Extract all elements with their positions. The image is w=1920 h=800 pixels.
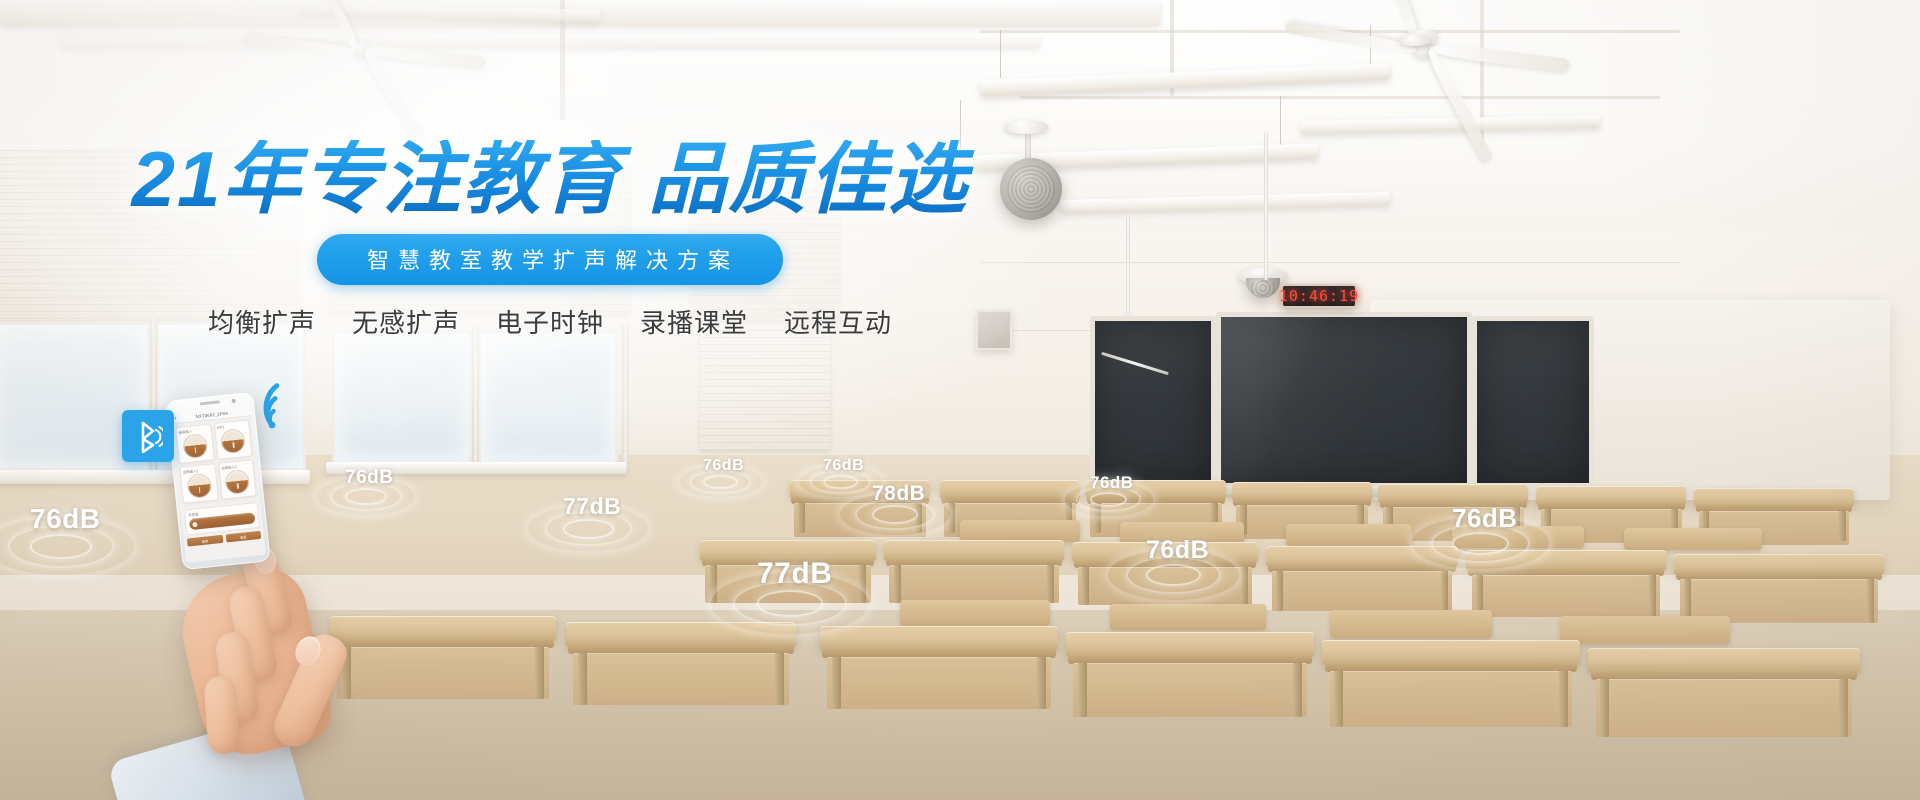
desk-front — [1272, 571, 1452, 611]
phone-front-camera — [231, 398, 235, 402]
channel-tile-grid: 级联输入MP3话筒输入1话筒输入2 — [172, 416, 260, 507]
desk-leg-r — [1293, 663, 1302, 717]
chair-row-b-3 — [1286, 524, 1412, 546]
smartphone[interactable]: ‹ NXT0602_2P04 级联输入MP3话筒输入1话筒输入2 总音量 静音重… — [165, 392, 270, 570]
bluetooth-badge — [122, 410, 174, 462]
phone-screen[interactable]: ‹ NXT0602_2P04 级联输入MP3话筒输入1话筒输入2 总音量 静音重… — [171, 405, 266, 563]
desk-top — [1232, 482, 1372, 500]
volume-knob-3[interactable] — [186, 473, 212, 499]
clock-time-display: 10:46:19 — [1279, 287, 1359, 305]
db-label-6: 78dB — [872, 482, 925, 506]
desk-front — [1596, 679, 1852, 737]
db-label-9: 76dB — [1146, 536, 1209, 565]
phone-earpiece — [200, 400, 220, 405]
blackboard-main — [1216, 312, 1472, 488]
desk-front — [827, 657, 1051, 709]
desk-leg-l — [1078, 663, 1087, 717]
desk-top — [1674, 554, 1884, 574]
desk-leg-r — [1839, 679, 1848, 737]
chair-row-b-1 — [960, 520, 1080, 542]
channel-tile-3[interactable]: 话筒输入1 — [179, 463, 218, 504]
finger-pinky — [203, 675, 240, 755]
feature-item-5: 远程互动 — [784, 303, 892, 340]
desk-row-c-3 — [1322, 640, 1580, 736]
desk-front — [889, 565, 1058, 603]
chair-row-c-1 — [900, 600, 1050, 626]
desk-leg-r — [1559, 671, 1568, 727]
speaker-ceiling-plate-1 — [1004, 120, 1048, 134]
desk-leg-r — [1047, 565, 1054, 603]
desk-top — [1378, 484, 1528, 502]
desk-top — [884, 540, 1064, 560]
db-label-1: 76dB — [30, 503, 100, 535]
db-label-10: 76dB — [1452, 503, 1518, 534]
desk-top — [1322, 640, 1580, 664]
db-label-4: 76dB — [703, 457, 744, 475]
wifi-signal-icon — [262, 375, 322, 433]
desk-row-c-1 — [820, 626, 1058, 716]
desk-top — [1066, 632, 1314, 656]
volume-knob-4[interactable] — [224, 469, 250, 495]
feature-item-4: 录播课堂 — [640, 303, 748, 340]
volume-knob-2[interactable] — [220, 428, 246, 454]
desk-leg-l — [1276, 571, 1283, 611]
app-button-2[interactable]: 重置 — [225, 531, 261, 543]
chair-row-b-5 — [1624, 528, 1762, 550]
feature-item-1: 均衡扩声 — [208, 303, 316, 340]
channel-tile-4[interactable]: 话筒输入2 — [218, 459, 257, 500]
db-label-8: 76dB — [1090, 473, 1134, 493]
desk-leg-l — [1334, 671, 1343, 727]
page-title: 21年专注教育品质佳选 — [0, 140, 1100, 218]
feature-item-2: 无感扩声 — [352, 303, 460, 340]
ceiling-soffit-b — [60, 34, 1040, 48]
desk-leg-l — [1600, 679, 1609, 737]
bluetooth-icon — [133, 419, 163, 453]
ceiling-mic-stem-2 — [1264, 132, 1268, 280]
electronic-clock: 10:46:19 — [1281, 284, 1357, 308]
desk-row-c-4 — [1588, 648, 1860, 746]
desk-leg-l — [798, 503, 805, 533]
headline-part-2: 品质佳选 — [648, 135, 968, 223]
volume-knob-1[interactable] — [182, 433, 208, 459]
desk-leg-l — [1082, 567, 1089, 605]
window-mullion-3 — [622, 326, 629, 471]
light-wire-1 — [1000, 30, 1001, 78]
db-label-7: 77dB — [757, 557, 832, 591]
desk-row-c-0 — [566, 622, 796, 712]
ceiling-beam-e — [1020, 96, 1660, 99]
desk-leg-l — [832, 657, 841, 709]
subtitle-pill: 智慧教室教学扩声解决方案 — [317, 234, 783, 285]
channel-tile-2[interactable]: MP3 — [213, 419, 252, 460]
feature-item-3: 电子时钟 — [496, 303, 604, 340]
desk-top — [1694, 488, 1854, 506]
desk-leg-r — [775, 653, 784, 705]
channel-tile-1[interactable]: 级联输入 — [175, 423, 214, 464]
blackboard-glare — [1221, 317, 1467, 483]
chair-row-c-3 — [1330, 610, 1492, 638]
feature-list: 均衡扩声无感扩声电子时钟录播课堂远程互动 — [0, 303, 1100, 340]
chair-row-c-4 — [1560, 616, 1730, 644]
light-wire-4 — [1280, 96, 1281, 146]
desk-leg-r — [1867, 579, 1874, 623]
blackboard-left-wing — [1090, 316, 1216, 488]
desk-leg-r — [1839, 511, 1846, 541]
desk-row-c-2 — [1066, 632, 1314, 724]
desk-top — [1536, 486, 1686, 504]
hero-banner: 10:46:19 — [0, 0, 1920, 800]
master-volume-card[interactable]: 总音量 — [184, 502, 260, 536]
window-blind-3 — [700, 330, 830, 450]
hero-text-block: 21年专注教育品质佳选 智慧教室教学扩声解决方案 均衡扩声无感扩声电子时钟录播课… — [0, 140, 1100, 340]
desk-top — [820, 626, 1058, 650]
desk-leg-l — [578, 653, 587, 705]
blackboard-right-wing — [1472, 316, 1594, 488]
headline-part-1: 21年专注教育 — [132, 135, 623, 223]
db-label-3: 77dB — [563, 493, 621, 520]
blind-slats-3 — [700, 330, 830, 450]
desk-front — [573, 653, 789, 705]
desk-leg-l — [894, 565, 901, 603]
speaker-ceiling-plate-3 — [1398, 34, 1432, 46]
desk-front — [1330, 671, 1573, 727]
desk-front — [1472, 575, 1660, 617]
db-label-5: 76dB — [823, 457, 864, 475]
desk-top — [940, 480, 1080, 498]
desk-leg-r — [1441, 571, 1448, 611]
desk-leg-r — [1649, 575, 1656, 617]
desk-front — [1073, 663, 1306, 717]
window-pane-4 — [478, 330, 618, 465]
desk-top — [1588, 648, 1860, 672]
phone-in-hand-group: ‹ NXT0602_2P04 级联输入MP3话筒输入1话筒输入2 总音量 静音重… — [150, 390, 480, 800]
chair-row-c-2 — [1110, 604, 1266, 630]
desk-leg-r — [1037, 657, 1046, 709]
app-button-1[interactable]: 静音 — [187, 535, 223, 547]
desk-leg-r — [535, 647, 544, 699]
desk-leg-r — [1241, 567, 1248, 605]
